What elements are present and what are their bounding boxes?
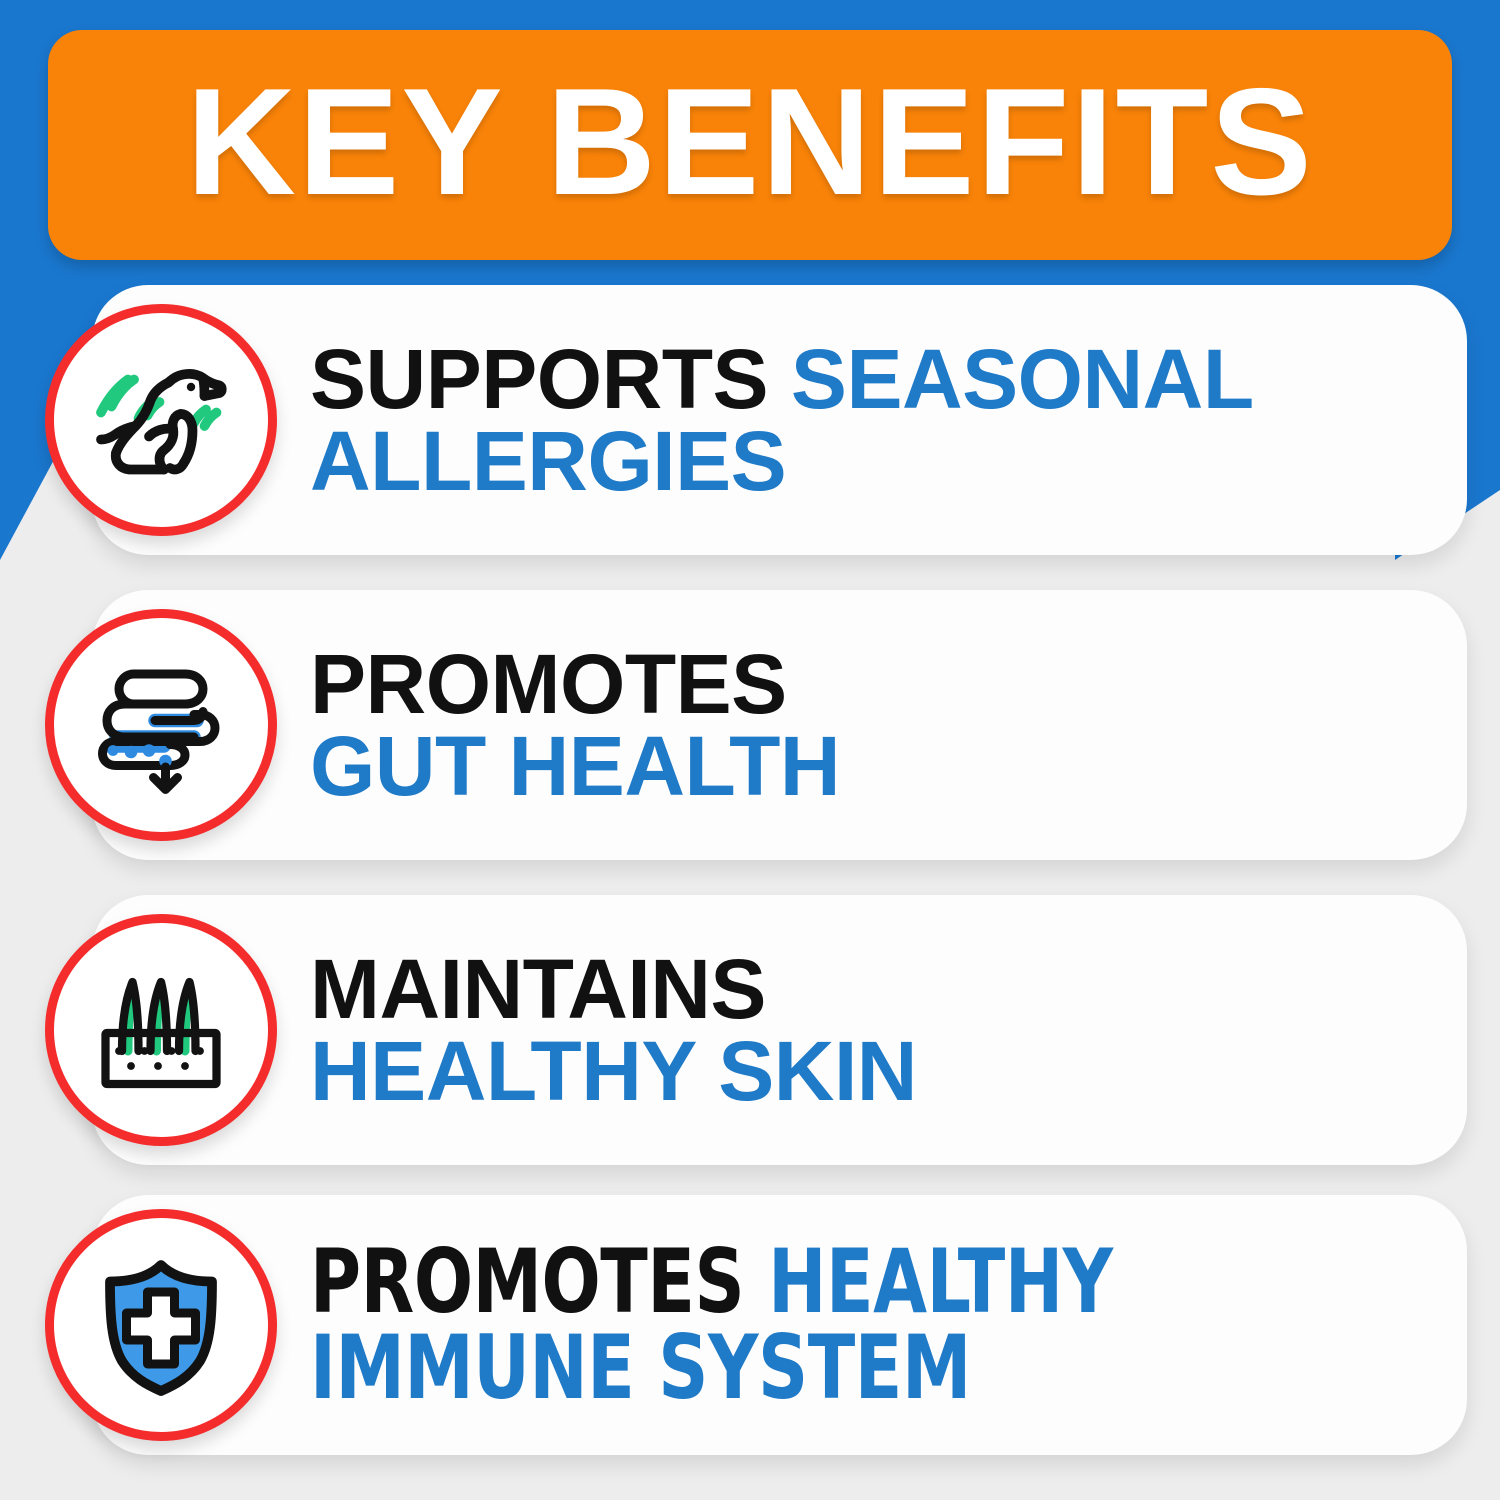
- benefit-text-immune: PROMOTES HEALTHY IMMUNE SYSTEM: [310, 1239, 1134, 1411]
- benefit-line-1-plain: PROMOTES: [310, 637, 787, 731]
- benefit-text-allergies: SUPPORTS SEASONAL ALLERGIES: [310, 338, 1278, 503]
- benefit-line-2: IMMUNE SYSTEM: [310, 1325, 1113, 1411]
- benefit-card-gut: PROMOTES GUT HEALTH: [92, 590, 1467, 860]
- icon-badge-immune: [45, 1209, 277, 1441]
- page-title: KEY BENEFITS: [186, 66, 1314, 224]
- dog-eye: [187, 383, 195, 391]
- benefit-line-2: HEALTHY SKIN: [310, 1030, 917, 1112]
- shield-cross-icon: [86, 1250, 236, 1400]
- benefit-line-2-accent: ALLERGIES: [310, 414, 786, 508]
- benefit-line-1-plain: MAINTAINS: [310, 942, 766, 1036]
- icon-badge-allergies: [45, 304, 277, 536]
- header-banner: KEY BENEFITS: [48, 30, 1452, 260]
- skin-follicle-icon: [86, 955, 236, 1105]
- benefit-card-skin: MAINTAINS HEALTHY SKIN: [92, 895, 1467, 1165]
- icon-badge-gut: [45, 609, 277, 841]
- benefit-line-1: SUPPORTS SEASONAL: [310, 338, 1254, 420]
- benefit-line-2: GUT HEALTH: [310, 725, 840, 807]
- benefit-card-allergies: SUPPORTS SEASONAL ALLERGIES: [92, 285, 1467, 555]
- benefit-line-2-accent: IMMUNE SYSTEM: [310, 1316, 971, 1419]
- benefit-line-1-accent: SEASONAL: [791, 332, 1254, 426]
- benefit-line-1: PROMOTES: [310, 643, 840, 725]
- benefit-card-immune: PROMOTES HEALTHY IMMUNE SYSTEM: [92, 1195, 1467, 1455]
- benefit-text-gut: PROMOTES GUT HEALTH: [310, 643, 864, 808]
- benefit-line-2-accent: HEALTHY SKIN: [310, 1024, 917, 1118]
- benefit-line-2-accent: GUT HEALTH: [310, 719, 840, 813]
- benefit-line-1-plain: SUPPORTS: [310, 332, 791, 426]
- benefit-line-1: MAINTAINS: [310, 948, 917, 1030]
- benefit-line-1: PROMOTES HEALTHY: [310, 1239, 1113, 1325]
- benefit-line-2: ALLERGIES: [310, 420, 1254, 502]
- intestine-gut-icon: [86, 650, 236, 800]
- benefit-text-skin: MAINTAINS HEALTHY SKIN: [310, 948, 941, 1113]
- dog-scratching-icon: [86, 345, 236, 495]
- icon-badge-skin: [45, 914, 277, 1146]
